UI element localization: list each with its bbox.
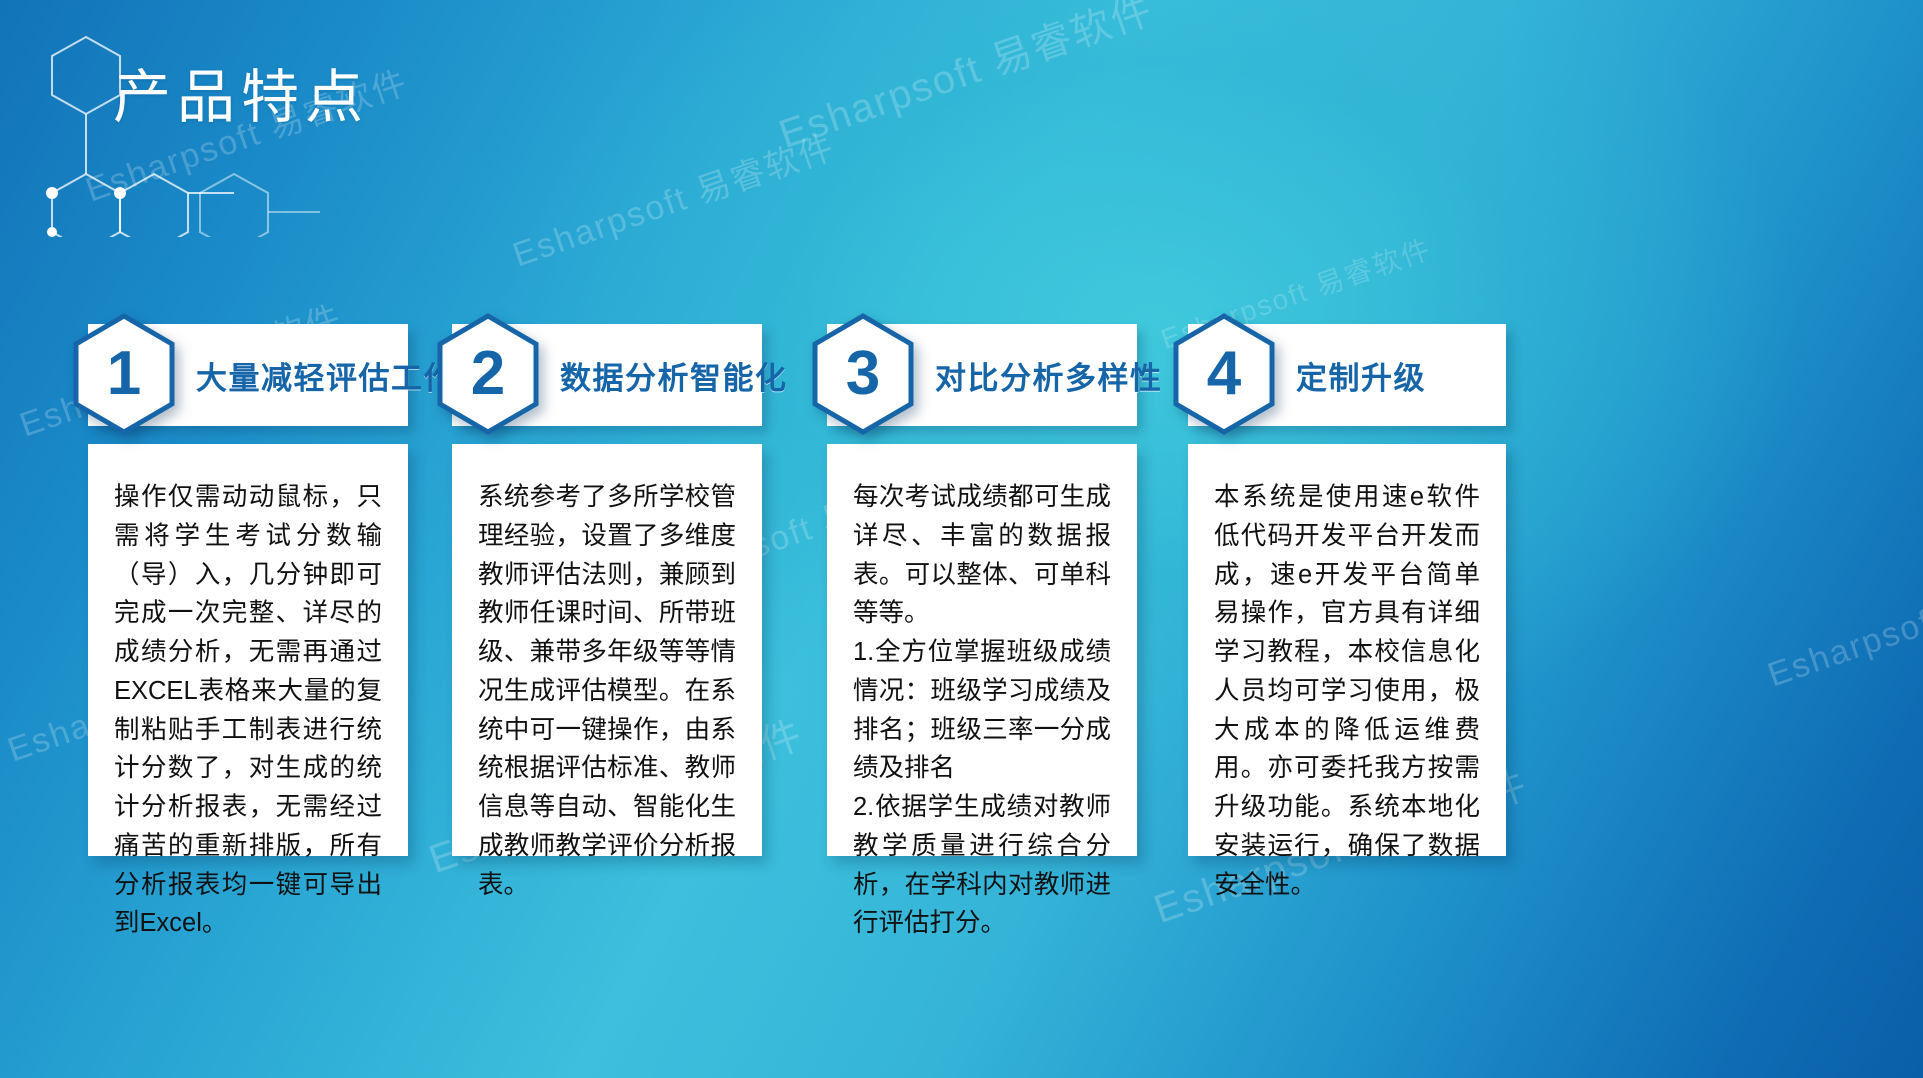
card-body-1: 操作仅需动动鼠标，只需将学生考试分数输（导）入，几分钟即可完成一次完整、详尽的成… (88, 444, 408, 856)
card-body-4: 本系统是使用速e软件低代码开发平台开发而成，速e开发平台简单易操作，官方具有详细… (1188, 444, 1506, 856)
card-text-3: 每次考试成绩都可生成详尽、丰富的数据报表。可以整体、可单科等等。 1.全方位掌握… (853, 478, 1111, 943)
card-header-2: 2 数据分析智能化 (452, 324, 762, 426)
card-header-4: 4 定制升级 (1188, 324, 1506, 426)
slide-canvas: Esharpsoft 易睿软件 Esharpsoft 易睿软件 Esharpso… (0, 0, 1923, 1078)
card-text-1: 操作仅需动动鼠标，只需将学生考试分数输（导）入，几分钟即可完成一次完整、详尽的成… (114, 478, 382, 943)
card-body-2: 系统参考了多所学校管理经验，设置了多维度教师评估法则，兼顾到教师任课时间、所带班… (452, 444, 762, 856)
feature-card-1: 1 大量减轻评估工作 操作仅需动动鼠标，只需将学生考试分数输（导）入，几分钟即可… (88, 324, 408, 856)
card-title-4: 定制升级 (1296, 353, 1426, 398)
feature-card-4: 4 定制升级 本系统是使用速e软件低代码开发平台开发而成，速e开发平台简单易操作… (1188, 324, 1506, 856)
card-text-2: 系统参考了多所学校管理经验，设置了多维度教师评估法则，兼顾到教师任课时间、所带班… (478, 478, 736, 904)
card-title-3: 对比分析多样性 (935, 353, 1163, 398)
card-header-1: 1 大量减轻评估工作 (88, 324, 408, 426)
card-title-1: 大量减轻评估工作 (196, 353, 456, 398)
hexagon-badge-1 (70, 312, 178, 436)
hexagon-badge-4 (1170, 312, 1278, 436)
feature-cards: 1 大量减轻评估工作 操作仅需动动鼠标，只需将学生考试分数输（导）入，几分钟即可… (0, 0, 1923, 1078)
card-title-2: 数据分析智能化 (560, 353, 788, 398)
card-text-4: 本系统是使用速e软件低代码开发平台开发而成，速e开发平台简单易操作，官方具有详细… (1214, 478, 1480, 904)
card-body-3: 每次考试成绩都可生成详尽、丰富的数据报表。可以整体、可单科等等。 1.全方位掌握… (827, 444, 1137, 856)
card-header-3: 3 对比分析多样性 (827, 324, 1137, 426)
hexagon-badge-2 (434, 312, 542, 436)
hexagon-badge-3 (809, 312, 917, 436)
feature-card-3: 3 对比分析多样性 每次考试成绩都可生成详尽、丰富的数据报表。可以整体、可单科等… (827, 324, 1137, 856)
feature-card-2: 2 数据分析智能化 系统参考了多所学校管理经验，设置了多维度教师评估法则，兼顾到… (452, 324, 762, 856)
